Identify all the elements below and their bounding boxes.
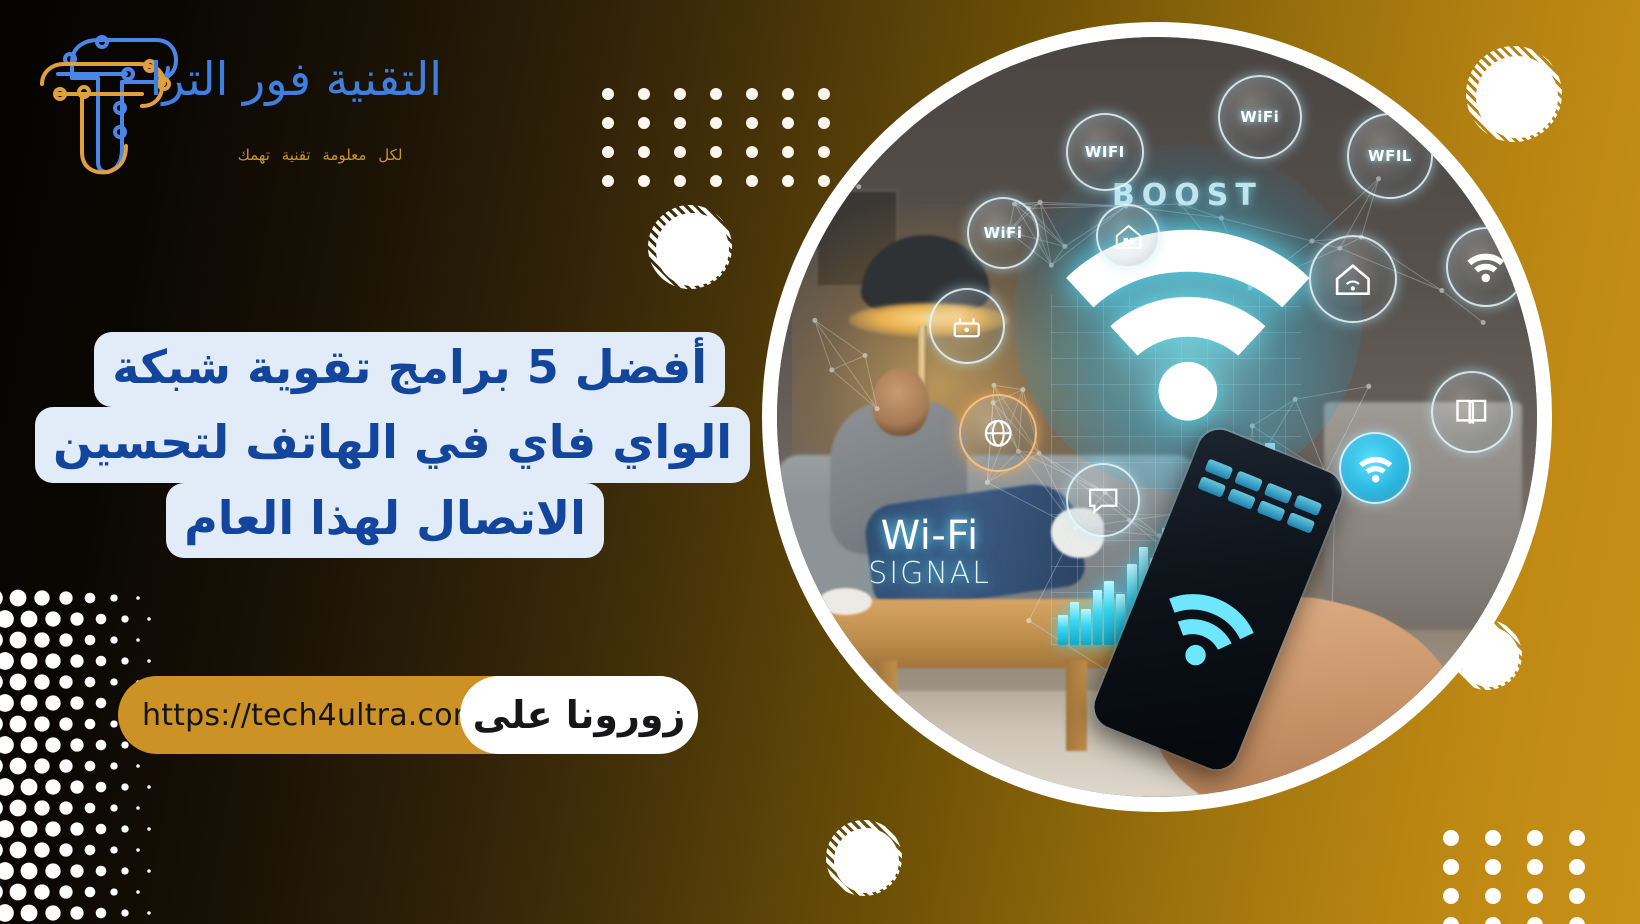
book-icon — [1451, 392, 1492, 433]
grid-dot — [1527, 830, 1543, 846]
brand-logo[interactable]: التقنية فور الترا لكل معلومة تقنية تهمك — [22, 18, 442, 178]
grid-dot — [746, 88, 758, 100]
bubble-label: WiFi — [983, 224, 1022, 242]
grid-dot — [1527, 917, 1543, 924]
chart-bar — [1093, 590, 1103, 645]
bubble-wifi-icon: WFIL — [1347, 113, 1433, 199]
grid-dot — [710, 175, 722, 187]
wifi-signal-icon — [1466, 247, 1506, 287]
phone-app-icons — [1197, 458, 1322, 533]
wifi-filled-icon — [1358, 451, 1393, 486]
website-url: https://tech4ultra.com — [142, 698, 482, 733]
striped-circle-decoration — [826, 820, 902, 896]
grid-dot — [1569, 917, 1585, 924]
grid-dot — [710, 146, 722, 158]
bubble-house-signal-icon — [1309, 235, 1397, 323]
chart-bar — [1058, 615, 1068, 645]
home-icon — [1113, 221, 1144, 252]
bubble-wifi-icon: WiFi — [967, 197, 1039, 269]
grid-dot — [1527, 888, 1543, 904]
chart-bar — [1070, 602, 1080, 645]
chart-bar — [1081, 609, 1091, 645]
cta-bar: https://tech4ultra.com زورونا على — [118, 676, 698, 754]
grid-dot — [638, 146, 650, 158]
brand-tagline: لكل معلومة تقنية تهمك — [198, 146, 442, 164]
bubble-wifi-icon: WiFi — [1218, 75, 1302, 159]
grid-dot — [1569, 830, 1585, 846]
bubble-book-icon — [1431, 371, 1513, 453]
grid-dot — [1485, 888, 1501, 904]
headline-line-3: الاتصال لهذا العام — [166, 483, 604, 558]
grid-dot — [602, 146, 614, 158]
house-signal-icon — [1331, 257, 1375, 301]
grid-dot — [1443, 830, 1459, 846]
globe-icon — [979, 414, 1017, 452]
router-icon — [948, 307, 985, 344]
bubble-label: WIFI — [1085, 143, 1125, 161]
bubble-router-icon — [929, 288, 1005, 364]
central-wifi-glow: BOOST — [1013, 143, 1363, 493]
grid-dot — [710, 117, 722, 129]
bubble-label: WiFi — [1240, 108, 1279, 126]
chat-icon — [1085, 481, 1121, 517]
grid-dot — [1443, 917, 1459, 924]
grid-dot — [1485, 917, 1501, 924]
phone-wifi-icon — [1147, 575, 1264, 683]
brand-name: التقنية فور الترا — [198, 52, 442, 106]
headline-line-1: أفضل 5 برامج تقوية شبكة — [94, 332, 725, 407]
grid-dot — [1443, 888, 1459, 904]
grid-dot — [638, 175, 650, 187]
grid-dot — [602, 175, 614, 187]
grid-dot — [638, 117, 650, 129]
grid-dot — [1485, 859, 1501, 875]
grid-dot — [1569, 859, 1585, 875]
visit-us-label: زورونا على — [473, 696, 686, 734]
dot-grid-bottom-right — [1443, 830, 1585, 924]
bubble-chat-icon — [1066, 463, 1140, 537]
grid-dot — [674, 146, 686, 158]
grid-dot — [1443, 859, 1459, 875]
bubble-wifi-icon: WIFI — [1066, 113, 1144, 191]
bubble-label: WFIL — [1368, 147, 1412, 165]
grid-dot — [746, 117, 758, 129]
grid-dot — [602, 88, 614, 100]
grid-dot — [1569, 888, 1585, 904]
wifi-signal-label: Wi-Fi SIGNAL — [868, 516, 991, 589]
poster-canvas: Wi-Fi SIGNAL BOOST — [0, 0, 1640, 924]
grid-dot — [602, 117, 614, 129]
bubble-home-icon — [1096, 204, 1160, 268]
hero-photo: Wi-Fi SIGNAL BOOST — [777, 37, 1537, 797]
grid-dot — [746, 175, 758, 187]
chart-bar — [1104, 581, 1114, 645]
visit-us-pill[interactable]: زورونا على — [460, 676, 698, 754]
bubble-wifi-signal-icon — [1446, 227, 1526, 307]
grid-dot — [674, 175, 686, 187]
grid-dot — [1485, 830, 1501, 846]
grid-dot — [638, 88, 650, 100]
wifi-signal-line2: SIGNAL — [868, 559, 991, 589]
striped-circle-decoration — [648, 205, 732, 289]
halftone-decoration — [0, 586, 192, 924]
grid-dot — [674, 88, 686, 100]
wifi-signal-line1: Wi-Fi — [868, 516, 991, 556]
grid-dot — [1527, 859, 1543, 875]
grid-dot — [746, 146, 758, 158]
grid-dot — [674, 117, 686, 129]
hero-photo-ring: Wi-Fi SIGNAL BOOST — [762, 22, 1552, 812]
grid-dot — [710, 88, 722, 100]
page-title: أفضل 5 برامج تقوية شبكة الواي فاي في اله… — [0, 332, 770, 558]
headline-line-2: الواي فاي في الهاتف لتحسين — [35, 407, 750, 482]
